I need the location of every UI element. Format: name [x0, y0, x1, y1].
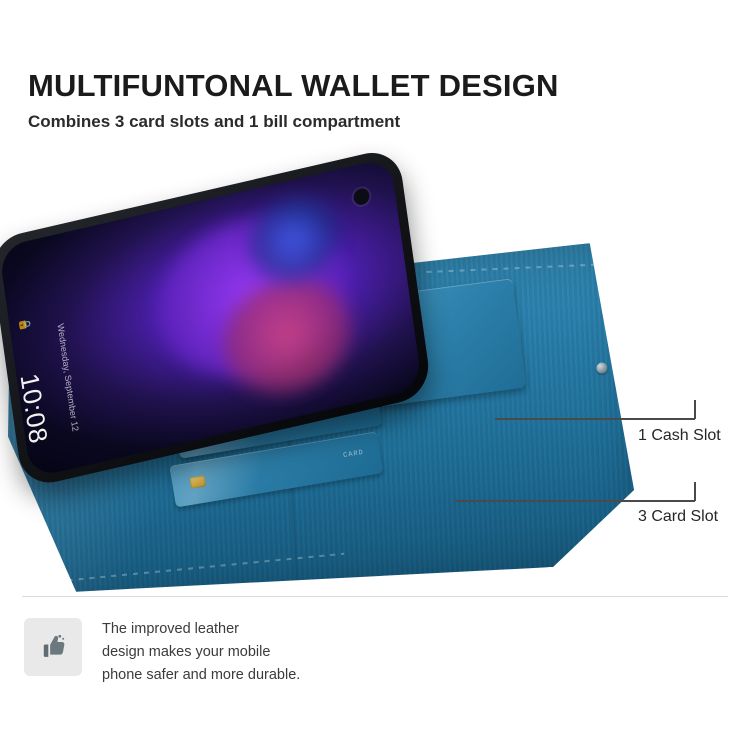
callout-tick-cash [694, 400, 696, 419]
callout-label-card-slot: 3 Card Slot [638, 508, 718, 526]
callout-label-cash-slot: 1 Cash Slot [638, 427, 721, 445]
callout-line-cash [495, 418, 695, 420]
page-title: MULTIFUNTONAL WALLET DESIGN [28, 68, 559, 104]
product-photo: BANK 1234 5678 9012 CARD BANK VISA CARD [0, 160, 640, 590]
lockscreen-date: Wednesday, September 12 [56, 323, 81, 433]
front-camera-icon [353, 187, 371, 207]
footer-line-1: The improved leather [102, 618, 522, 641]
thumbs-up-icon [24, 618, 82, 676]
callout-line-card [455, 500, 695, 502]
callout-tick-card [694, 482, 696, 501]
card-slot-3-label: CARD [343, 449, 365, 460]
footer-divider [22, 596, 728, 597]
lock-icon: 🔒 [18, 316, 33, 333]
footer-line-2: design makes your mobile [102, 641, 522, 664]
footer-description: The improved leather design makes your m… [102, 618, 522, 687]
page-subtitle: Combines 3 card slots and 1 bill compart… [28, 112, 400, 132]
product-infographic: MULTIFUNTONAL WALLET DESIGN Combines 3 c… [0, 0, 750, 750]
footer-line-3: phone safer and more durable. [102, 664, 522, 687]
